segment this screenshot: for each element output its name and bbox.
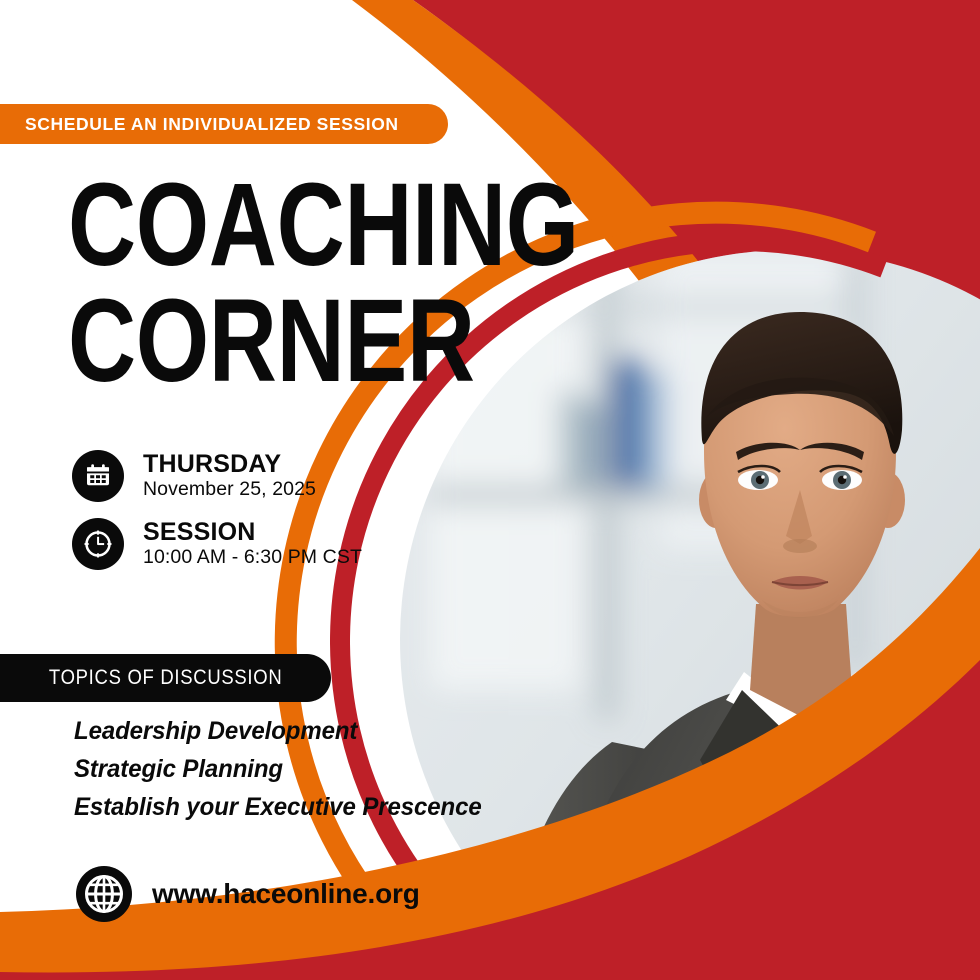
poster-canvas: SCHEDULE AN INDIVIDUALIZED SESSION COACH…: [0, 0, 980, 980]
eyebrow-text: SCHEDULE AN INDIVIDUALIZED SESSION: [0, 114, 399, 135]
detail-subtitle: November 25, 2025: [143, 478, 316, 501]
globe-icon: [76, 866, 132, 922]
topics-heading-text: TOPICS OF DISCUSSION: [49, 666, 282, 690]
detail-row-session: SESSION 10:00 AM - 6:30 PM CST: [72, 518, 362, 570]
detail-row-date: THURSDAY November 25, 2025: [72, 450, 362, 502]
topic-item: Establish your Executive Prescence: [74, 788, 482, 826]
detail-title: SESSION: [143, 519, 362, 546]
detail-title: THURSDAY: [143, 451, 316, 478]
topics-list: Leadership Development Strategic Plannin…: [74, 712, 499, 826]
footer-website[interactable]: www.haceonline.org: [76, 866, 420, 922]
website-url: www.haceonline.org: [152, 878, 420, 910]
detail-subtitle: 10:00 AM - 6:30 PM CST: [143, 546, 362, 569]
poster-content: SCHEDULE AN INDIVIDUALIZED SESSION COACH…: [0, 0, 980, 980]
title-line-2: CORNER: [68, 284, 579, 400]
title-line-1: COACHING: [68, 168, 579, 284]
topics-heading-banner: TOPICS OF DISCUSSION: [0, 654, 331, 702]
event-details: THURSDAY November 25, 2025: [72, 450, 362, 586]
clock-icon: [72, 518, 124, 570]
topic-item: Leadership Development: [74, 712, 482, 750]
page-title: COACHING CORNER: [68, 168, 579, 399]
topic-item: Strategic Planning: [74, 750, 482, 788]
calendar-icon: [72, 450, 124, 502]
eyebrow-banner: SCHEDULE AN INDIVIDUALIZED SESSION: [0, 104, 448, 144]
